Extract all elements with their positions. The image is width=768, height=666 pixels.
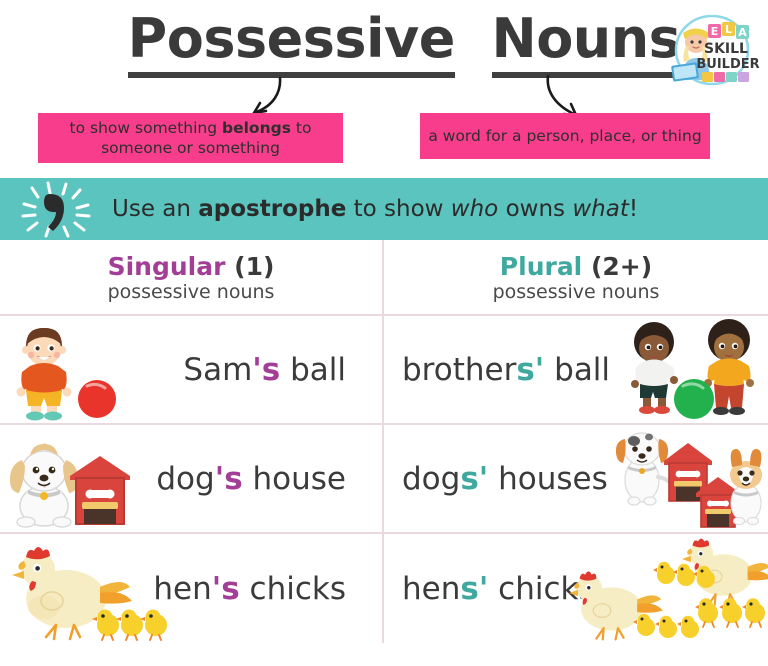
example-phrase-singular-ball: Sam's ball <box>183 352 346 388</box>
phrase-object: house <box>243 461 346 497</box>
phrase-base: hen <box>402 571 460 607</box>
dog-with-doghouse-illustration <box>4 430 134 530</box>
two-boys-with-green-ball-illustration <box>616 316 766 421</box>
banner-rule-text: Use an apostrophe to show who owns what! <box>112 196 638 222</box>
callout-possessive-definition: to show something belongs to someone or … <box>38 113 343 163</box>
table-row: hen's chicks hens' chicks <box>0 534 768 643</box>
phrase-possessive-mark: s' <box>460 461 488 497</box>
column-header-singular-label: Singular <box>108 252 226 281</box>
example-cell-singular-chicks: hen's chicks <box>0 534 384 643</box>
phrase-possessive-mark: s' <box>516 352 544 388</box>
banner-text-mid1: to show <box>346 196 450 222</box>
svg-text:L: L <box>725 23 732 36</box>
apostrophe-rule-banner: Use an apostrophe to show who owns what! <box>0 178 768 240</box>
phrase-possessive-mark: s' <box>460 571 488 607</box>
callout-left-text-bold: belongs <box>222 119 291 137</box>
column-header-singular: Singular (1) possessive nouns <box>0 240 384 314</box>
table-row: dog's house dogs' houses <box>0 425 768 534</box>
phrase-base: dog <box>402 461 460 497</box>
title-word-possessive: Possessive <box>128 8 455 78</box>
phrase-object: ball <box>544 352 610 388</box>
phrase-base: hen <box>153 571 211 607</box>
column-header-plural-sub: possessive nouns <box>493 281 660 304</box>
column-header-plural-count: (2+) <box>591 252 652 281</box>
phrase-base: dog <box>156 461 214 497</box>
svg-text:A: A <box>738 26 747 39</box>
callout-left-text-before: to show something <box>70 119 222 137</box>
example-cell-singular-house: dog's house <box>0 425 384 532</box>
hen-with-three-chicks-illustration <box>4 541 164 641</box>
example-cell-plural-ball: brothers' ball <box>384 316 768 423</box>
column-header-plural-label: Plural <box>500 252 582 281</box>
banner-text-mid2: owns <box>498 196 572 222</box>
possessive-nouns-poster: Possessive Nouns <box>0 0 768 666</box>
table-row: Sam's ball brothers' ball <box>0 316 768 425</box>
example-phrase-singular-chicks: hen's chicks <box>153 571 346 607</box>
logo-text-skill: SKILL <box>704 41 748 57</box>
title-word-nouns: Nouns <box>492 8 681 78</box>
apostrophe-sparkle-icon <box>10 178 108 240</box>
boy-with-red-ball-illustration <box>4 316 124 421</box>
example-cell-plural-chicks: hens' chicks <box>384 534 768 643</box>
example-cell-plural-houses: dogs' houses <box>384 425 768 532</box>
banner-text-italic-who: who <box>451 196 498 222</box>
phrase-base: Sam <box>183 352 252 388</box>
banner-text-end: ! <box>629 196 638 222</box>
banner-text-before: Use an <box>112 196 198 222</box>
example-cell-singular-ball: Sam's ball <box>0 316 384 423</box>
phrase-object: houses <box>488 461 608 497</box>
banner-text-italic-what: what <box>572 196 629 222</box>
phrase-object: ball <box>280 352 346 388</box>
phrase-possessive-mark: 's <box>212 571 240 607</box>
phrase-possessive-mark: 's <box>215 461 243 497</box>
poster-header: Possessive Nouns <box>0 0 768 178</box>
example-phrase-singular-house: dog's house <box>156 461 346 497</box>
phrase-base: brother <box>402 352 516 388</box>
callout-right-text: a word for a person, place, or thing <box>428 126 701 146</box>
banner-text-bold: apostrophe <box>198 196 346 222</box>
example-phrase-plural-ball: brothers' ball <box>402 352 610 388</box>
two-hens-with-many-chicks-illustration <box>556 534 766 641</box>
column-header-singular-count: (1) <box>234 252 274 281</box>
table-header-row: Singular (1) possessive nouns Plural (2+… <box>0 240 768 316</box>
callout-noun-definition: a word for a person, place, or thing <box>420 113 710 159</box>
possessive-nouns-table: Singular (1) possessive nouns Plural (2+… <box>0 240 768 666</box>
svg-text:E: E <box>711 25 719 38</box>
phrase-object: chicks <box>240 571 346 607</box>
two-dogs-with-two-doghouses-illustration <box>606 425 766 530</box>
logo-text-builder: BUILDER <box>696 57 759 72</box>
page-title: Possessive Nouns <box>0 8 768 86</box>
column-header-singular-sub: possessive nouns <box>108 281 275 304</box>
ela-skill-builder-logo: E L A SKILL BUILDER <box>664 8 756 96</box>
phrase-possessive-mark: 's <box>252 352 280 388</box>
column-header-plural: Plural (2+) possessive nouns <box>384 240 768 314</box>
example-phrase-plural-houses: dogs' houses <box>402 461 608 497</box>
